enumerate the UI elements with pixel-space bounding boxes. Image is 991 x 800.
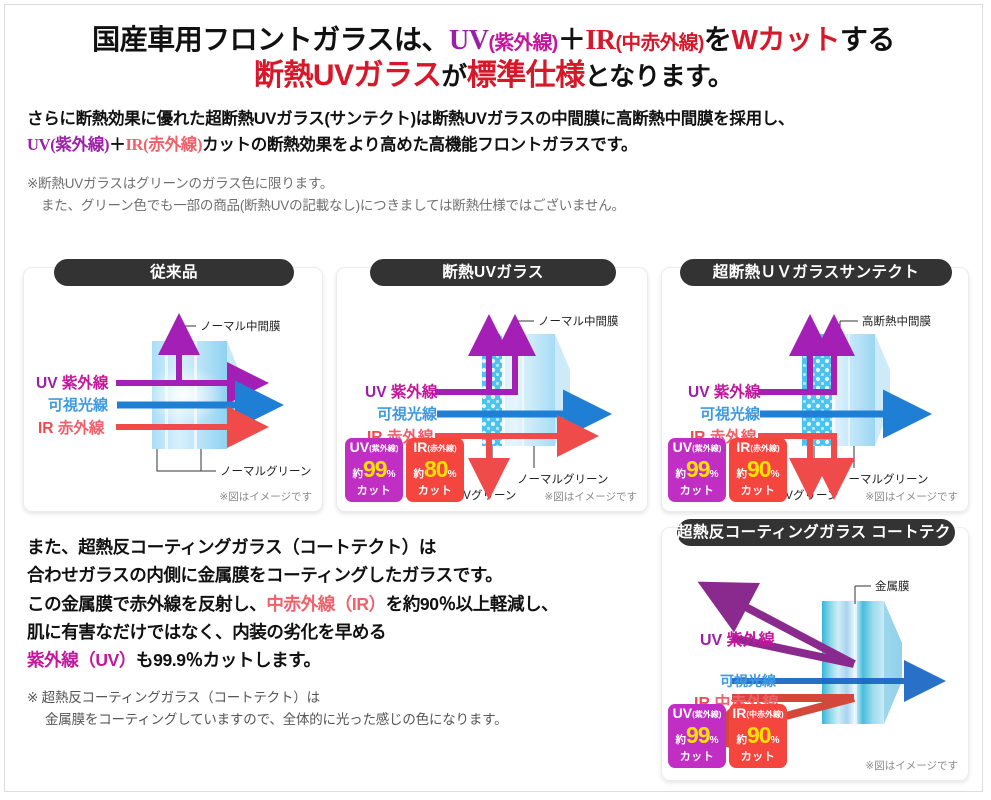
bottom-note: ※ 超熱反コーティングガラス（コートテクト）は 金属膜をコーティングしていますの… bbox=[27, 687, 632, 731]
headline-wcut: Wカット bbox=[731, 24, 839, 55]
ray-label-visible-uvglass: 可視光線 bbox=[377, 405, 438, 423]
badge-paren-label: (赤外線) bbox=[750, 444, 779, 453]
badge-cut-label: カット bbox=[345, 482, 403, 498]
bottom-line-2: 合わせガラスの内側に金属膜をコーティングしたガラスです。 bbox=[27, 561, 632, 589]
badge-number: 99 bbox=[686, 456, 710, 482]
badge-cut-label: カット bbox=[729, 482, 787, 498]
headline-wo: を bbox=[704, 24, 732, 55]
badge-mid-uvglass-ir: 約80% bbox=[406, 456, 464, 483]
lead-paragraph: さらに断熱効果に優れた超断熱UVガラス(サンテクト)は断熱UVガラスの中間膜に高… bbox=[27, 107, 960, 159]
headline-line-1: 国産車用フロントガラスは、UV(紫外線)＋IR(中赤外線)をWカットする bbox=[5, 23, 982, 58]
callout-bottom-legacy bbox=[157, 449, 216, 471]
bottom-note-1: ※ 超熱反コーティングガラス（コートテクト）は bbox=[27, 690, 320, 705]
badge-top-coattect-ir: IR(中赤外線) bbox=[729, 707, 787, 721]
card-title-uv-glass: 断熱UVガラス bbox=[370, 259, 616, 286]
ray-label-ir-legacy: IR 赤外線 bbox=[38, 418, 105, 437]
headline-uv: UV bbox=[449, 25, 488, 56]
badge-kind-label: UV bbox=[673, 439, 692, 455]
ray-label-uv-suntect: UV 紫外線 bbox=[688, 382, 761, 401]
badge-percent: % bbox=[387, 469, 396, 480]
badge-mid-coattect-ir: 約90% bbox=[729, 722, 787, 749]
header-note-1: ※断熱UVガラスはグリーンのガラス色に限ります。 bbox=[27, 176, 333, 191]
bottom-uv-highlight: 紫外線（UV） bbox=[27, 650, 136, 670]
headline-line-2: 断熱UVガラスが標準仕様となります。 bbox=[5, 58, 982, 95]
callout-label-normal-green: ノーマルグリーン bbox=[220, 464, 311, 478]
badge-mid-coattect-uv: 約99% bbox=[668, 722, 726, 749]
badge-kind-label: UV bbox=[350, 439, 369, 455]
badge-paren-label: (中赤外線) bbox=[746, 710, 783, 719]
bottom-line-4: 肌に有害なだけではなく、内装の劣化を早める bbox=[27, 618, 632, 646]
badge-ir-cut-coattect: IR(中赤外線) 約90% カット bbox=[729, 704, 787, 768]
lead-ir-tag: IR(赤外線) bbox=[125, 135, 202, 154]
badge-kind-label: IR bbox=[736, 439, 750, 455]
badge-top-uvglass-uv: UV(紫外線) bbox=[345, 441, 403, 455]
headline-tail: となります。 bbox=[585, 63, 733, 91]
bottom-line-1: また、超熱反コーティングガラス（コートテクト）は bbox=[27, 533, 632, 561]
badge-uv-cut-coattect: UV(紫外線) 約99% カット bbox=[668, 704, 726, 768]
badge-mid-suntect-ir: 約90% bbox=[729, 456, 787, 483]
badge-top-uvglass-ir: IR(赤外線) bbox=[406, 441, 464, 455]
lead-line-2: UV(紫外線)＋IR(赤外線)カットの断熱効果をより高めた高機能フロントガラスで… bbox=[27, 132, 960, 159]
card-uv-glass: 断熱UVガラス bbox=[336, 267, 648, 512]
infographic-page: 国産車用フロントガラスは、UV(紫外線)＋IR(中赤外線)をWカットする 断熱U… bbox=[4, 4, 983, 792]
ray-label-uv-coattect: UV 紫外線 bbox=[700, 630, 776, 649]
header-note-2: また、グリーン色でも一部の商品(断熱UVの記載なし)につきましては断熱仕様ではご… bbox=[27, 195, 960, 217]
glass-block-legacy bbox=[144, 341, 242, 449]
badge-number: 90 bbox=[747, 722, 771, 748]
ray-label-uv-uvglass: UV 紫外線 bbox=[365, 382, 438, 401]
callout-label-metal-film: 金属膜 bbox=[875, 580, 910, 593]
badge-paren-label: (紫外線) bbox=[369, 444, 398, 453]
badge-group-coattect: UV(紫外線) 約99% カット IR(中赤外線) 約90% カット bbox=[668, 704, 787, 768]
headline-text-a: 国産車用フロントガラスは、 bbox=[92, 24, 449, 55]
bottom-line-3-a: この金属膜で赤外線を反射し、 bbox=[27, 594, 266, 614]
badge-approx: 約 bbox=[676, 468, 687, 480]
card-coattect: 超熱反コーティングガラス コートテクト bbox=[661, 527, 969, 781]
badge-ir-cut-uvglass: IR(赤外線) 約80% カット bbox=[406, 438, 464, 502]
badge-number: 99 bbox=[686, 722, 710, 748]
header-notes: ※断熱UVガラスはグリーンのガラス色に限ります。 また、グリーン色でも一部の商品… bbox=[27, 173, 960, 217]
headline-suru: する bbox=[840, 24, 895, 55]
bottom-note-2: 金属膜をコーティングしていますので、全体的に光った感じの色になります。 bbox=[27, 709, 632, 731]
ray-label-visible-coattect: 可視光線 bbox=[720, 673, 777, 689]
badge-paren-label: (赤外線) bbox=[427, 444, 456, 453]
bottom-line-3-b: を約90％以上軽減し、 bbox=[386, 594, 559, 614]
badge-mid-suntect-uv: 約99% bbox=[668, 456, 726, 483]
badge-percent: % bbox=[710, 735, 719, 746]
badge-approx: 約 bbox=[353, 468, 364, 480]
callout-label-normal-green-suntect: ノーマルグリーン bbox=[837, 472, 928, 486]
headline: 国産車用フロントガラスは、UV(紫外線)＋IR(中赤外線)をWカットする 断熱U… bbox=[5, 5, 982, 95]
badge-cut-label: カット bbox=[668, 482, 726, 498]
badge-number: 90 bbox=[747, 456, 771, 482]
card-title-suntect: 超断熱ＵＶガラスサンテクト bbox=[680, 259, 952, 286]
badge-group-suntect: UV(紫外線) 約99% カット IR(赤外線) 約90% カット bbox=[668, 438, 787, 502]
badge-cut-label: カット bbox=[406, 482, 464, 498]
badge-kind-label: IR bbox=[413, 439, 427, 455]
headline-uv-paren: (紫外線) bbox=[489, 32, 558, 54]
badge-top-suntect-ir: IR(赤外線) bbox=[729, 441, 787, 455]
bottom-main-text: また、超熱反コーティングガラス（コートテクト）は 合わせガラスの内側に金属膜をコ… bbox=[27, 533, 632, 675]
headline-product: 断熱UVガラス bbox=[254, 59, 442, 92]
bottom-line-3: この金属膜で赤外線を反射し、中赤外線（IR）を約90％以上軽減し、 bbox=[27, 590, 632, 618]
bottom-line-5: 紫外線（UV）も99.9％カットします。 bbox=[27, 646, 632, 674]
callout-label-normal-green-uv: ノーマルグリーン bbox=[517, 472, 608, 486]
ray-label-visible-suntect: 可視光線 bbox=[700, 405, 761, 423]
badge-top-coattect-uv: UV(紫外線) bbox=[668, 707, 726, 721]
card-suntect: 超断熱ＵＶガラスサンテクト bbox=[661, 267, 969, 512]
lead-line-1: さらに断熱効果に優れた超断熱UVガラス(サンテクト)は断熱UVガラスの中間膜に高… bbox=[27, 107, 960, 133]
image-note-legacy: ※図はイメージです bbox=[219, 489, 312, 504]
badge-paren-label: (紫外線) bbox=[692, 444, 721, 453]
badge-number: 99 bbox=[363, 456, 387, 482]
badge-number: 80 bbox=[424, 456, 448, 482]
badge-percent: % bbox=[448, 469, 457, 480]
headline-ga: が bbox=[441, 63, 466, 91]
callout-label-interlayer: ノーマル中間膜 bbox=[200, 320, 281, 333]
badge-kind-label: IR bbox=[732, 705, 746, 721]
badge-kind-label: UV bbox=[673, 705, 692, 721]
card-legacy-glass: 従来品 bbox=[23, 267, 323, 512]
badge-approx: 約 bbox=[737, 734, 748, 746]
image-note-coattect: ※図はイメージです bbox=[865, 758, 958, 773]
ray-label-uv-legacy: UV 紫外線 bbox=[36, 373, 109, 392]
badge-top-suntect-uv: UV(紫外線) bbox=[668, 441, 726, 455]
headline-standard: 標準仕様 bbox=[467, 59, 585, 92]
badge-uv-cut-suntect: UV(紫外線) 約99% カット bbox=[668, 438, 726, 502]
headline-plus: ＋ bbox=[558, 24, 586, 55]
badge-mid-uvglass-uv: 約99% bbox=[345, 456, 403, 483]
badge-percent: % bbox=[771, 735, 780, 746]
headline-ir: IR bbox=[585, 25, 615, 56]
badge-uv-cut-uvglass: UV(紫外線) 約99% カット bbox=[345, 438, 403, 502]
callout-label-high-interlayer: 高断熱中間膜 bbox=[862, 315, 931, 328]
ray-label-visible-legacy: 可視光線 bbox=[48, 396, 109, 414]
badge-approx: 約 bbox=[414, 468, 425, 480]
headline-ir-paren: (中赤外線) bbox=[615, 32, 703, 54]
image-note-uv-glass: ※図はイメージです bbox=[544, 489, 637, 504]
diagram-legacy: ノーマル中間膜 ノーマルグリーン UV bbox=[24, 286, 322, 513]
badge-cut-label: カット bbox=[729, 748, 787, 764]
badge-percent: % bbox=[771, 469, 780, 480]
badge-approx: 約 bbox=[676, 734, 687, 746]
badge-ir-cut-suntect: IR(赤外線) 約90% カット bbox=[729, 438, 787, 502]
lead-uv-tag: UV(紫外線) bbox=[27, 135, 109, 154]
badge-paren-label: (紫外線) bbox=[692, 710, 721, 719]
bottom-line-5-b: も99.9％カットします。 bbox=[136, 650, 321, 670]
card-title-coattect: 超熱反コーティングガラス コートテクト bbox=[677, 519, 955, 546]
callout-label-interlayer-uv: ノーマル中間膜 bbox=[538, 315, 619, 328]
lead-rest: カットの断熱効果をより高めた高機能フロントガラスです。 bbox=[202, 136, 637, 154]
image-note-suntect: ※図はイメージです bbox=[865, 489, 958, 504]
badge-approx: 約 bbox=[737, 468, 748, 480]
card-title-legacy: 従来品 bbox=[54, 259, 294, 286]
bottom-ir-highlight: 中赤外線（IR） bbox=[266, 594, 385, 614]
bottom-description: また、超熱反コーティングガラス（コートテクト）は 合わせガラスの内側に金属膜をコ… bbox=[27, 533, 632, 730]
badge-percent: % bbox=[710, 469, 719, 480]
badge-cut-label: カット bbox=[668, 748, 726, 764]
lead-plus: ＋ bbox=[109, 136, 125, 154]
badge-group-uv-glass: UV(紫外線) 約99% カット IR(赤外線) 約80% カット bbox=[345, 438, 464, 502]
